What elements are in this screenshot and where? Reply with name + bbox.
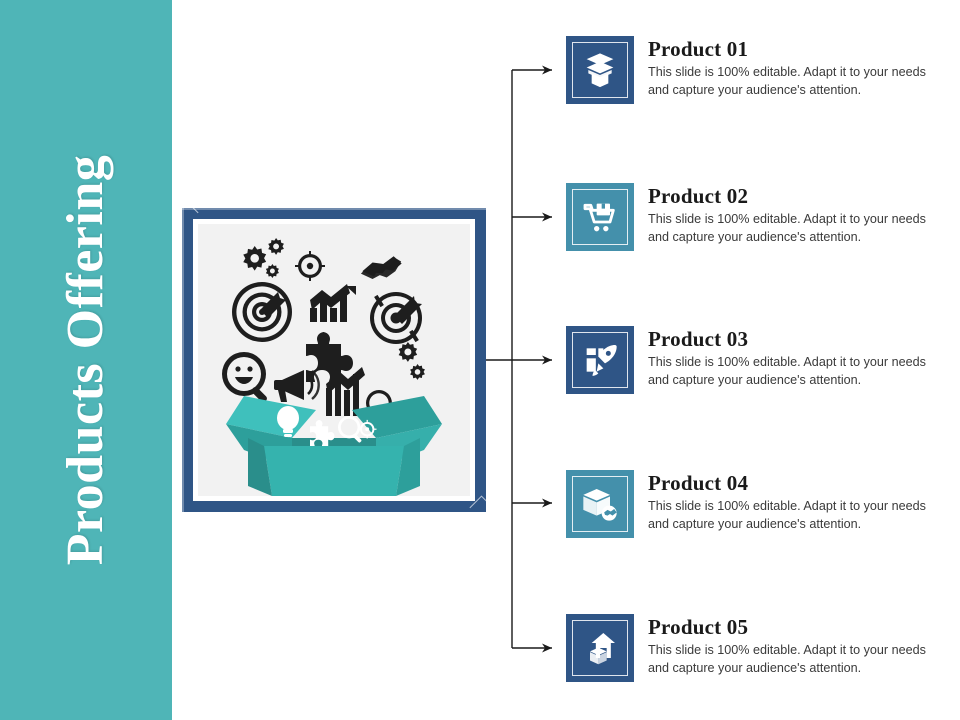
- illustration-frame: [182, 208, 486, 512]
- product-text-4: Product 04 This slide is 100% editable. …: [648, 470, 938, 533]
- home-delivery-icon: [580, 628, 620, 668]
- product-title-2: Product 02: [648, 185, 938, 208]
- product-title-3: Product 03: [648, 328, 938, 351]
- product-icon-box-3[interactable]: [566, 326, 634, 394]
- product-text-5: Product 05 This slide is 100% editable. …: [648, 614, 938, 677]
- product-item-5[interactable]: Product 05 This slide is 100% editable. …: [566, 614, 938, 694]
- product-description-1: This slide is 100% editable. Adapt it to…: [648, 64, 938, 100]
- product-icon-box-2[interactable]: [566, 183, 634, 251]
- rocket-launch-icon: [580, 340, 620, 380]
- product-item-2[interactable]: Product 02 This slide is 100% editable. …: [566, 183, 938, 263]
- product-item-1[interactable]: Product 01 This slide is 100% editable. …: [566, 36, 938, 116]
- product-icon-box-5[interactable]: [566, 614, 634, 682]
- title-panel: Products Offering: [0, 0, 172, 720]
- product-description-4: This slide is 100% editable. Adapt it to…: [648, 498, 938, 534]
- page-title: Products Offering: [60, 155, 112, 565]
- product-title-1: Product 01: [648, 38, 938, 61]
- slide-canvas: Products Offering: [0, 0, 960, 720]
- illustration-canvas: [198, 224, 470, 496]
- open-package-icon: [580, 50, 620, 90]
- product-description-5: This slide is 100% editable. Adapt it to…: [648, 642, 938, 678]
- product-description-2: This slide is 100% editable. Adapt it to…: [648, 211, 938, 247]
- product-description-3: This slide is 100% editable. Adapt it to…: [648, 354, 938, 390]
- product-item-4[interactable]: Product 04 This slide is 100% editable. …: [566, 470, 938, 550]
- product-text-3: Product 03 This slide is 100% editable. …: [648, 326, 938, 389]
- product-title-4: Product 04: [648, 472, 938, 495]
- product-item-3[interactable]: Product 03 This slide is 100% editable. …: [566, 326, 938, 406]
- product-icon-box-1[interactable]: [566, 36, 634, 104]
- cube-handshake-icon: [580, 484, 620, 524]
- product-text-2: Product 02 This slide is 100% editable. …: [648, 183, 938, 246]
- product-title-5: Product 05: [648, 616, 938, 639]
- shopping-cart-icon: [580, 197, 620, 237]
- open-box-illustration-icon: [198, 224, 470, 496]
- product-text-1: Product 01 This slide is 100% editable. …: [648, 36, 938, 99]
- product-icon-box-4[interactable]: [566, 470, 634, 538]
